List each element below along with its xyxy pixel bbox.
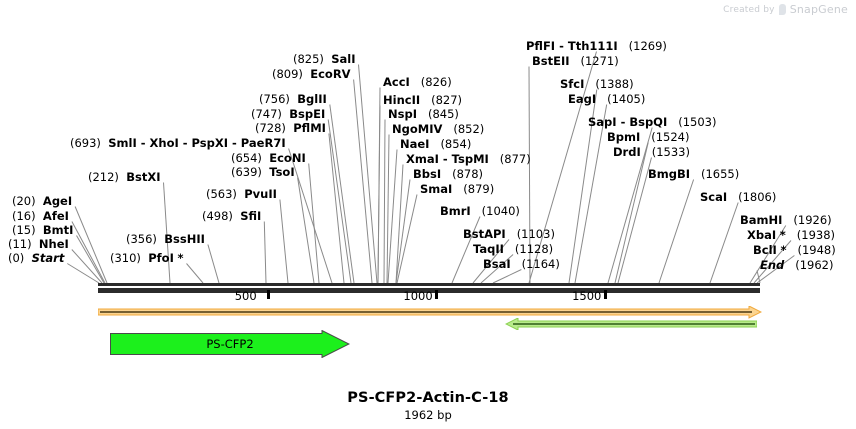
site-name-sfii-0: SfiI bbox=[240, 209, 261, 223]
site-name-bstapi-0: BstAPI bbox=[463, 227, 506, 241]
reverse-backbone-arrow[interactable] bbox=[505, 318, 757, 330]
site-name-bbsi-0: BbsI bbox=[413, 167, 441, 181]
site-label-tsoi[interactable]: (639) TsoI bbox=[231, 166, 295, 179]
site-position-bstxi: (212) bbox=[88, 170, 119, 184]
site-name-smai-0: SmaI bbox=[420, 182, 452, 196]
site-label-sali[interactable]: (825) SalI bbox=[293, 53, 356, 66]
site-position-taqii: (1128) bbox=[515, 242, 553, 256]
leader-line-start bbox=[67, 264, 99, 284]
site-position-drdi: (1533) bbox=[652, 145, 690, 159]
site-name-pflfi-1: Tth111I bbox=[568, 39, 618, 53]
site-position-smli: (693) bbox=[70, 136, 101, 150]
site-label-bmgbi[interactable]: BmgBI (1655) bbox=[648, 168, 739, 181]
site-name-hincii-0: HincII bbox=[383, 93, 420, 107]
site-name-separator: - bbox=[617, 115, 630, 129]
site-name-eagi-0: EagI bbox=[568, 92, 596, 106]
site-name-smli-3: PaeR7I bbox=[241, 136, 286, 150]
site-position-bpmi: (1524) bbox=[651, 130, 689, 144]
site-label-bbsi[interactable]: BbsI (878) bbox=[413, 168, 483, 181]
leader-line-pflmi bbox=[329, 134, 344, 284]
leader-lines bbox=[0, 0, 856, 429]
leader-line-acci bbox=[378, 88, 380, 284]
site-label-bamhi[interactable]: BamHI (1926) bbox=[740, 214, 832, 227]
site-name-separator: - bbox=[439, 152, 452, 166]
leader-line-nspi bbox=[384, 120, 385, 284]
snapgene-logo-icon bbox=[779, 4, 786, 15]
ruler-label-500: 500 bbox=[235, 289, 257, 303]
site-label-bclI[interactable]: BclI * (1948) bbox=[753, 244, 836, 257]
site-label-start[interactable]: (0) Start bbox=[8, 252, 64, 265]
site-name-bsai-0: BsaI bbox=[483, 257, 511, 271]
site-name-smli-0: SmlI bbox=[108, 136, 137, 150]
site-name-smli-1: XhoI bbox=[150, 136, 179, 150]
site-name-separator: - bbox=[137, 136, 150, 150]
site-name-nhei-0: NheI bbox=[39, 237, 69, 251]
leader-line-naei bbox=[388, 150, 397, 284]
site-position-ecorv: (809) bbox=[272, 67, 303, 81]
leader-line-scai bbox=[710, 203, 738, 284]
site-name-sapi-0: SapI bbox=[588, 115, 617, 129]
site-position-econi: (654) bbox=[231, 151, 262, 165]
site-name-separator: - bbox=[228, 136, 241, 150]
site-label-econi[interactable]: (654) EcoNI bbox=[231, 152, 306, 165]
leader-line-smli bbox=[289, 149, 332, 284]
site-position-afei: (16) bbox=[12, 209, 36, 223]
site-name-afei-0: AfeI bbox=[43, 209, 69, 223]
ruler-tick-1500 bbox=[604, 290, 607, 299]
ps-cfp2-feature-label: PS-CFP2 bbox=[110, 337, 350, 351]
site-label-ecorv[interactable]: (809) EcoRV bbox=[272, 68, 351, 81]
site-name-ngomiv-0: NgoMIV bbox=[392, 122, 442, 136]
site-position-nhei: (11) bbox=[8, 237, 32, 251]
leader-line-afei bbox=[72, 222, 105, 284]
site-name-bmgbi-0: BmgBI bbox=[648, 167, 690, 181]
site-name-bsshii-0: BssHII bbox=[164, 232, 205, 246]
site-name-econi-0: EcoNI bbox=[269, 151, 305, 165]
site-name-drdi-0: DrdI bbox=[613, 145, 641, 159]
leader-line-sali bbox=[359, 65, 378, 284]
site-position-bsai: (1164) bbox=[522, 257, 560, 271]
site-name-bpmi-0: BpmI bbox=[607, 130, 640, 144]
leader-line-ngomiv bbox=[387, 135, 389, 284]
site-name-xmai-1: TspMI bbox=[452, 152, 489, 166]
site-position-bbsi: (878) bbox=[452, 167, 483, 181]
site-label-bstEII[interactable]: BstEII (1271) bbox=[532, 55, 619, 68]
site-label-ngomiv[interactable]: NgoMIV (852) bbox=[392, 123, 484, 136]
watermark-brand: SnapGene bbox=[790, 3, 848, 16]
site-name-bclI-0: BclI bbox=[753, 243, 777, 257]
ruler-tick-500 bbox=[267, 290, 270, 299]
site-position-tsoi: (639) bbox=[231, 165, 262, 179]
site-label-sfci[interactable]: SfcI (1388) bbox=[560, 78, 634, 91]
site-name-bstxi-0: BstXI bbox=[126, 170, 160, 184]
site-position-pflfi: (1269) bbox=[629, 39, 667, 53]
site-name-sali-0: SalI bbox=[331, 52, 355, 66]
site-label-pvuii[interactable]: (563) PvuII bbox=[206, 188, 277, 201]
leader-line-bsshii bbox=[208, 245, 219, 284]
site-position-bsshii: (356) bbox=[126, 232, 157, 246]
site-label-end[interactable]: End (1962) bbox=[760, 259, 834, 272]
site-label-bmti[interactable]: (15) BmtI bbox=[12, 224, 73, 237]
leader-line-hincii bbox=[378, 106, 380, 284]
leader-line-agei bbox=[75, 207, 107, 284]
site-label-sapi[interactable]: SapI - BspQI (1503) bbox=[588, 116, 716, 129]
site-position-eagi: (1405) bbox=[607, 92, 645, 106]
leader-line-bmti bbox=[77, 236, 105, 284]
site-name-bspei-0: BspEI bbox=[289, 107, 325, 121]
site-label-bsai[interactable]: BsaI (1164) bbox=[483, 258, 560, 271]
site-label-smli[interactable]: (693) SmlI - XhoI - PspXI - PaeR7I bbox=[70, 137, 286, 150]
site-label-pflfi[interactable]: PflFI - Tth111I (1269) bbox=[526, 40, 667, 53]
site-position-bclI: (1948) bbox=[797, 243, 835, 257]
site-label-bglii[interactable]: (756) BglII bbox=[259, 93, 327, 106]
site-position-hincii: (827) bbox=[431, 93, 462, 107]
site-position-sali: (825) bbox=[293, 52, 324, 66]
site-name-pfoi-0: PfoI bbox=[148, 251, 174, 265]
site-position-bglii: (756) bbox=[259, 92, 290, 106]
site-position-nspi: (845) bbox=[428, 107, 459, 121]
leader-line-smai bbox=[397, 195, 417, 284]
site-label-eagi[interactable]: EagI (1405) bbox=[568, 93, 645, 106]
site-position-bmti: (15) bbox=[12, 223, 36, 237]
site-position-smai: (879) bbox=[463, 182, 494, 196]
site-position-agei: (20) bbox=[12, 194, 36, 208]
site-name-agei-0: AgeI bbox=[43, 194, 72, 208]
site-name-sapi-1: BspQI bbox=[629, 115, 667, 129]
ruler-tick-1000 bbox=[435, 290, 438, 299]
site-label-afei[interactable]: (16) AfeI bbox=[12, 210, 69, 223]
site-label-bspei[interactable]: (747) BspEI bbox=[251, 108, 325, 121]
site-label-pfoi[interactable]: (310) PfoI * bbox=[110, 252, 184, 265]
leader-line-sfii bbox=[264, 222, 266, 284]
site-position-end: (1962) bbox=[795, 258, 833, 272]
plasmid-length: 1962 bp bbox=[0, 408, 856, 422]
site-label-bsshii[interactable]: (356) BssHII bbox=[126, 233, 205, 246]
site-label-acci[interactable]: AccI (826) bbox=[383, 76, 452, 89]
leader-line-bbsi bbox=[396, 180, 410, 284]
watermark-prefix: Created by bbox=[723, 5, 775, 15]
plasmid-map: Created by SnapGene (0) Start(11) NheI(1… bbox=[0, 0, 856, 429]
site-label-sfii[interactable]: (498) SfiI bbox=[202, 210, 261, 223]
site-position-bstEII: (1271) bbox=[581, 54, 619, 68]
leader-line-bmgbi bbox=[659, 180, 694, 284]
site-label-xbai[interactable]: XbaI * (1938) bbox=[747, 229, 835, 242]
site-position-start: (0) bbox=[8, 251, 24, 265]
leader-line-econi bbox=[309, 164, 319, 284]
site-position-bspei: (747) bbox=[251, 107, 282, 121]
leader-line-tsoi bbox=[298, 178, 314, 284]
site-name-start-0: Start bbox=[32, 251, 65, 265]
site-name-bstEII-0: BstEII bbox=[532, 54, 570, 68]
leader-line-xmai bbox=[396, 165, 403, 284]
site-name-smli-2: PspXI bbox=[192, 136, 228, 150]
site-position-sapi: (1503) bbox=[678, 115, 716, 129]
site-name-bamhi-0: BamHI bbox=[740, 213, 782, 227]
site-position-acci: (826) bbox=[421, 75, 452, 89]
site-star-xbai: * bbox=[780, 228, 786, 242]
ruler-label-1000: 1000 bbox=[403, 289, 432, 303]
site-name-bglii-0: BglII bbox=[297, 92, 327, 106]
site-label-bstxi[interactable]: (212) BstXI bbox=[88, 171, 161, 184]
site-position-sfci: (1388) bbox=[595, 77, 633, 91]
site-position-pvuii: (563) bbox=[206, 187, 237, 201]
leader-line-bspei bbox=[328, 120, 351, 284]
snapgene-watermark: Created by SnapGene bbox=[723, 3, 848, 16]
leader-line-ecorv bbox=[354, 80, 372, 284]
site-label-scai[interactable]: ScaI (1806) bbox=[700, 191, 776, 204]
ruler-label-1500: 1500 bbox=[572, 289, 601, 303]
site-name-xbai-0: XbaI bbox=[747, 228, 776, 242]
site-name-nspi-0: NspI bbox=[388, 107, 417, 121]
site-position-bamhi: (1926) bbox=[793, 213, 831, 227]
site-label-bstapi[interactable]: BstAPI (1103) bbox=[463, 228, 555, 241]
site-position-xmai: (877) bbox=[500, 152, 531, 166]
site-name-end-0: End bbox=[760, 258, 784, 272]
leader-line-bsai bbox=[493, 270, 521, 284]
site-star-pfoi: * bbox=[178, 251, 184, 265]
site-label-smai[interactable]: SmaI (879) bbox=[420, 183, 494, 196]
site-label-naei[interactable]: NaeI (854) bbox=[400, 138, 471, 151]
site-position-naei: (854) bbox=[440, 137, 471, 151]
site-name-xmai-0: XmaI bbox=[406, 152, 439, 166]
site-position-pflmi: (728) bbox=[255, 121, 286, 135]
site-name-ecorv-0: EcoRV bbox=[310, 67, 350, 81]
site-name-separator: - bbox=[555, 39, 568, 53]
site-label-taqii[interactable]: TaqII (1128) bbox=[473, 243, 553, 256]
site-name-pvuii-0: PvuII bbox=[244, 187, 277, 201]
site-name-tsoi-0: TsoI bbox=[269, 165, 294, 179]
site-label-nspi[interactable]: NspI (845) bbox=[388, 108, 459, 121]
site-position-bmri: (1040) bbox=[482, 204, 520, 218]
leader-line-drdi bbox=[618, 158, 652, 284]
site-label-agei[interactable]: (20) AgeI bbox=[12, 195, 72, 208]
leader-line-bpmi bbox=[615, 143, 648, 284]
site-label-drdi[interactable]: DrdI (1533) bbox=[613, 146, 690, 159]
site-name-acci-0: AccI bbox=[383, 75, 410, 89]
site-position-pfoi: (310) bbox=[110, 251, 141, 265]
site-label-bmri[interactable]: BmrI (1040) bbox=[440, 205, 520, 218]
site-label-nhei[interactable]: (11) NheI bbox=[8, 238, 69, 251]
leader-line-eagi bbox=[575, 105, 607, 284]
leader-line-nhei bbox=[72, 250, 102, 284]
site-label-bpmi[interactable]: BpmI (1524) bbox=[607, 131, 689, 144]
leader-line-end bbox=[757, 271, 760, 284]
site-position-ngomiv: (852) bbox=[453, 122, 484, 136]
leader-line-bglii bbox=[330, 105, 354, 284]
site-name-taqii-0: TaqII bbox=[473, 242, 504, 256]
leader-line-pfoi bbox=[187, 264, 204, 284]
site-label-xmai[interactable]: XmaI - TspMI (877) bbox=[406, 153, 531, 166]
site-name-naei-0: NaeI bbox=[400, 137, 429, 151]
site-name-pflmi-0: PflMI bbox=[293, 121, 326, 135]
leader-line-pvuii bbox=[280, 200, 288, 284]
site-name-pflfi-0: PflFI bbox=[526, 39, 555, 53]
site-name-sfci-0: SfcI bbox=[560, 77, 584, 91]
site-name-bmti-0: BmtI bbox=[43, 223, 74, 237]
site-name-scai-0: ScaI bbox=[700, 190, 727, 204]
site-position-xbai: (1938) bbox=[797, 228, 835, 242]
site-label-hincii[interactable]: HincII (827) bbox=[383, 94, 462, 107]
site-label-pflmi[interactable]: (728) PflMI bbox=[255, 122, 326, 135]
plasmid-backbone-top bbox=[98, 283, 760, 286]
site-name-bmri-0: BmrI bbox=[440, 204, 471, 218]
site-position-bstapi: (1103) bbox=[517, 227, 555, 241]
site-position-scai: (1806) bbox=[738, 190, 776, 204]
page-title: PS-CFP2-Actin-C-18 bbox=[0, 390, 856, 406]
site-name-separator: - bbox=[179, 136, 192, 150]
site-position-sfii: (498) bbox=[202, 209, 233, 223]
site-position-bmgbi: (1655) bbox=[701, 167, 739, 181]
site-star-bclI: * bbox=[780, 243, 786, 257]
